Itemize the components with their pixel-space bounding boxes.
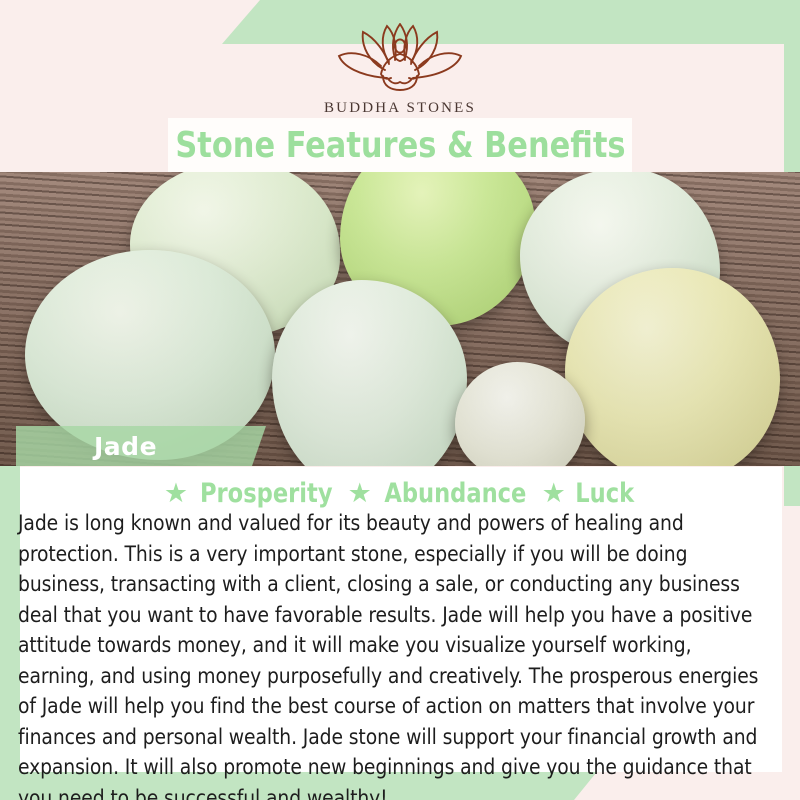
benefit-label: Abundance — [384, 478, 526, 509]
benefit-item-abundance: ★ Abundance — [348, 478, 532, 509]
star-icon: ★ — [542, 480, 566, 507]
stone-name-label: Jade — [94, 432, 157, 461]
stone-name-badge: Jade — [16, 426, 266, 466]
benefit-item-prosperity: ★ Prosperity — [164, 478, 338, 509]
jade-stones-photo — [0, 172, 800, 466]
stone-info-poster: BUDDHA STONES Stone Features & Benefits … — [0, 0, 800, 800]
page-title: Stone Features & Benefits — [175, 125, 625, 166]
star-icon: ★ — [348, 480, 372, 507]
benefit-label: Prosperity — [200, 478, 333, 509]
stone-description-text: Jade is long known and valued for its be… — [18, 509, 765, 800]
brand-logo: BUDDHA STONES — [0, 18, 800, 117]
photo-shading-overlay — [0, 172, 800, 466]
lotus-meditation-figure-icon — [325, 18, 475, 96]
brand-name: BUDDHA STONES — [324, 100, 476, 117]
benefit-item-luck: ★ Luck — [542, 478, 637, 509]
page-title-banner: Stone Features & Benefits — [168, 118, 632, 172]
star-icon: ★ — [164, 480, 188, 507]
benefit-label: Luck — [575, 478, 634, 509]
benefits-row: ★ Prosperity ★ Abundance ★ Luck — [0, 478, 800, 509]
